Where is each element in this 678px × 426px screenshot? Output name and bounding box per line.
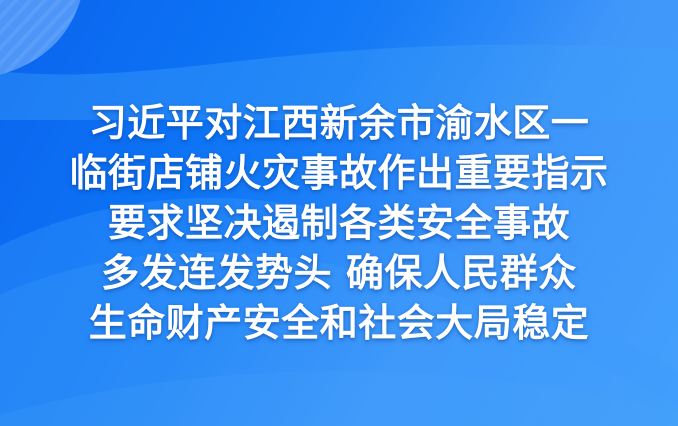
headline-line-1: 习近平对江西新余市渝水区一 <box>0 98 678 148</box>
headline-line-4: 多发连发势头 确保人民群众 <box>0 248 678 298</box>
headline-line-2: 临街店铺火灾事故作出重要指示 <box>0 148 678 198</box>
headline-text-block: 习近平对江西新余市渝水区一 临街店铺火灾事故作出重要指示 要求坚决遏制各类安全事… <box>0 0 678 426</box>
headline-line-5: 生命财产安全和社会大局稳定 <box>0 298 678 348</box>
headline-poster: 习近平对江西新余市渝水区一 临街店铺火灾事故作出重要指示 要求坚决遏制各类安全事… <box>0 0 678 426</box>
headline-line-3: 要求坚决遏制各类安全事故 <box>0 198 678 248</box>
